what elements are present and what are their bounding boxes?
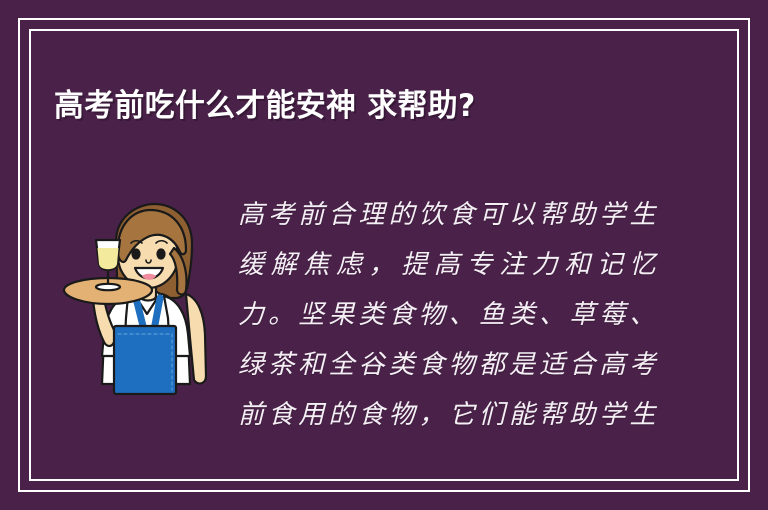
poster-canvas: 高考前吃什么才能安神 求帮助? <box>0 0 768 510</box>
glass-base <box>96 284 120 290</box>
waitress-illustration <box>62 198 222 428</box>
eye-right <box>156 248 165 259</box>
drink-liquid <box>98 248 119 269</box>
apron <box>114 326 176 394</box>
page-title: 高考前吃什么才能安神 求帮助? <box>54 87 668 126</box>
content-row: 高考前合理的饮食可以帮助学生缓解焦虑，提高专注力和记忆力。坚果类食物、鱼类、草莓… <box>54 190 714 464</box>
article-body: 高考前合理的饮食可以帮助学生缓解焦虑，提高专注力和记忆力。坚果类食物、鱼类、草莓… <box>238 190 658 445</box>
waitress-with-tray-icon <box>62 198 222 428</box>
eye-left <box>131 248 140 259</box>
